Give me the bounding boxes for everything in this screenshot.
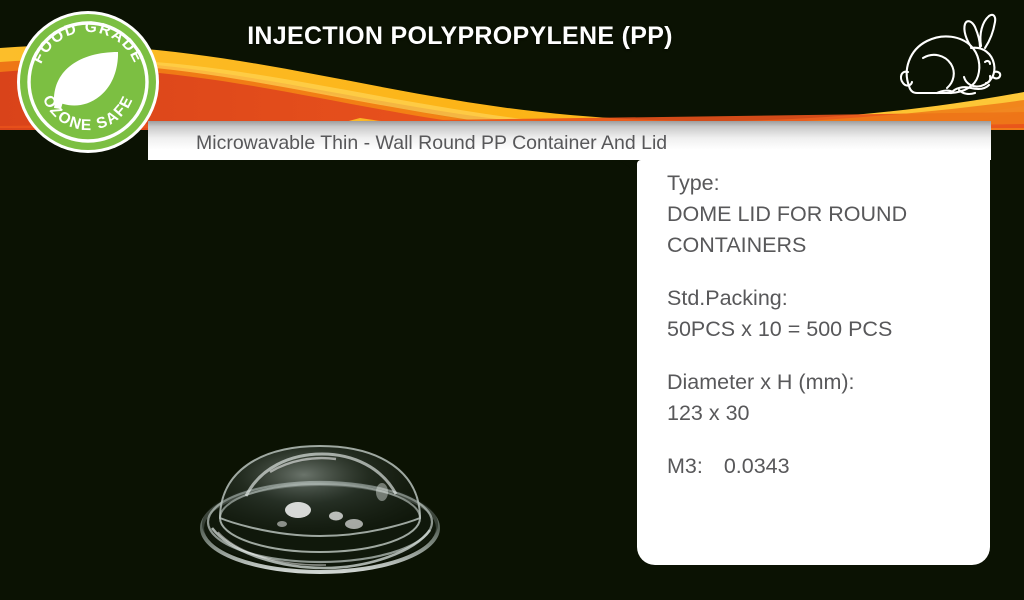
spec-label: Std.Packing: [667,283,977,314]
product-photo [186,432,454,584]
spec-value: DOME LID FOR ROUND CONTAINERS [667,199,977,261]
spec-item-type: Type: DOME LID FOR ROUND CONTAINERS [667,168,977,261]
product-panel: Code: D-RD LID [0,160,637,600]
spec-label: Diameter x H (mm): [667,367,977,398]
rabbit-logo-icon [893,10,1011,110]
page-subtitle: Microwavable Thin - Wall Round PP Contai… [196,129,956,157]
spec-label: Type: [667,168,977,199]
spec-label: M3: [667,454,703,478]
page-title: INJECTION POLYPROPYLENE (PP) [150,18,770,54]
spec-value: 123 x 30 [667,398,977,429]
product-spec-sheet: INJECTION POLYPROPYLENE (PP) FOOD GRADE [0,0,1024,600]
spec-panel: Type: DOME LID FOR ROUND CONTAINERS Std.… [637,160,990,565]
spec-item-packing: Std.Packing: 50PCS x 10 = 500 PCS [667,283,977,345]
spec-item-dimensions: Diameter x H (mm): 123 x 30 [667,367,977,429]
food-grade-badge: FOOD GRADE OZONE SAFE [14,8,162,156]
spec-item-volume: M3: 0.0343 [667,451,977,482]
spec-value: 50PCS x 10 = 500 PCS [667,314,977,345]
spec-value: 0.0343 [724,454,790,478]
